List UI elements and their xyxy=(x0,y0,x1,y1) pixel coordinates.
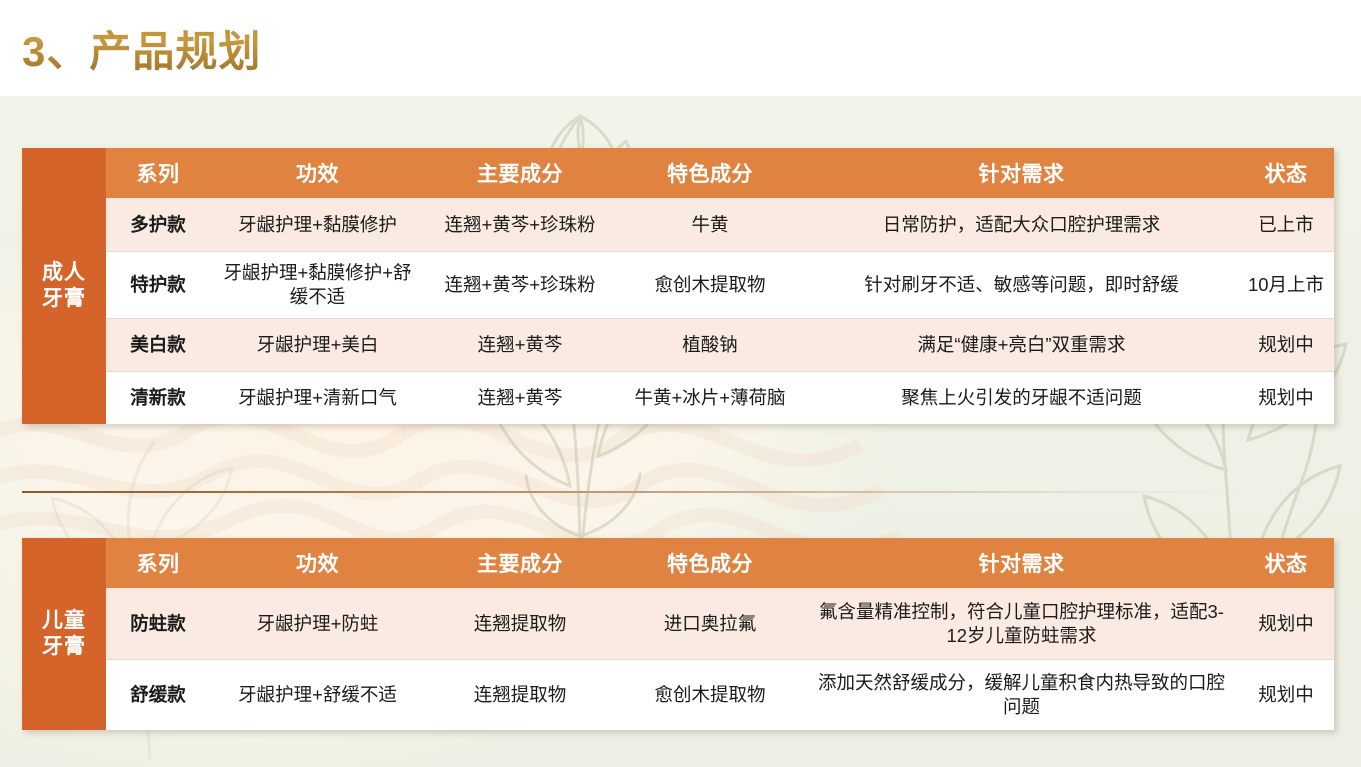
column-header-special-ingredients: 特色成分 xyxy=(615,538,805,588)
cell-need: 日常防护，适配大众口腔护理需求 xyxy=(805,198,1238,251)
cell-main: 连翘提取物 xyxy=(425,660,615,730)
page-title: 3、产品规划 xyxy=(22,18,261,79)
cell-special: 牛黄 xyxy=(615,198,805,251)
cell-special: 植酸钠 xyxy=(615,319,805,371)
adult-table-grid: 系列 功效 主要成分 特色成分 针对需求 状态 多护款 牙龈护理+黏膜修护 连翘… xyxy=(106,148,1334,424)
cell-status: 已上市 xyxy=(1238,198,1334,251)
cell-effect: 牙龈护理+舒缓不适 xyxy=(210,660,425,730)
column-header-status: 状态 xyxy=(1238,148,1334,198)
cell-effect: 牙龈护理+美白 xyxy=(210,319,425,371)
table-row: 美白款 牙龈护理+美白 连翘+黄芩 植酸钠 满足“健康+亮白”双重需求 规划中 xyxy=(106,318,1334,371)
cell-effect: 牙龈护理+黏膜修护 xyxy=(210,198,425,251)
column-header-main-ingredients: 主要成分 xyxy=(425,148,615,198)
cell-special: 愈创木提取物 xyxy=(615,660,805,730)
column-header-effect: 功效 xyxy=(210,148,425,198)
table-row: 防蛀款 牙龈护理+防蛀 连翘提取物 进口奥拉氟 氟含量精准控制，符合儿童口腔护理… xyxy=(106,588,1334,659)
cell-status: 规划中 xyxy=(1238,660,1334,730)
table-row: 舒缓款 牙龈护理+舒缓不适 连翘提取物 愈创木提取物 添加天然舒缓成分，缓解儿童… xyxy=(106,659,1334,730)
cell-series: 舒缓款 xyxy=(106,660,210,730)
cell-need: 针对刷牙不适、敏感等问题，即时舒缓 xyxy=(805,252,1238,318)
slide-canvas: 3、产品规划 成人 牙膏 系列 功效 主要成分 特色成分 针对需求 状态 多护款… xyxy=(0,0,1361,767)
column-header-special-ingredients: 特色成分 xyxy=(615,148,805,198)
cell-series: 防蛀款 xyxy=(106,588,210,659)
table-row: 清新款 牙龈护理+清新口气 连翘+黄芩 牛黄+冰片+薄荷脑 聚焦上火引发的牙龈不… xyxy=(106,371,1334,424)
side-label-line-2: 牙膏 xyxy=(42,634,86,660)
cell-series: 清新款 xyxy=(106,372,210,424)
cell-need: 氟含量精准控制，符合儿童口腔护理标准，适配3-12岁儿童防蛀需求 xyxy=(805,588,1238,659)
column-header-effect: 功效 xyxy=(210,538,425,588)
adult-toothpaste-table: 成人 牙膏 系列 功效 主要成分 特色成分 针对需求 状态 多护款 牙龈护理+黏… xyxy=(22,148,1334,424)
cell-effect: 牙龈护理+黏膜修护+舒缓不适 xyxy=(210,252,425,318)
cell-series: 多护款 xyxy=(106,198,210,251)
cell-main: 连翘+黄芩+珍珠粉 xyxy=(425,252,615,318)
cell-need: 添加天然舒缓成分，缓解儿童积食内热导致的口腔问题 xyxy=(805,660,1238,730)
cell-effect: 牙龈护理+清新口气 xyxy=(210,372,425,424)
cell-series: 特护款 xyxy=(106,252,210,318)
column-header-target-need: 针对需求 xyxy=(805,538,1238,588)
column-header-main-ingredients: 主要成分 xyxy=(425,538,615,588)
table-side-label-adult: 成人 牙膏 xyxy=(22,148,106,424)
side-label-line-1: 成人 xyxy=(42,260,86,286)
cell-main: 连翘+黄芩 xyxy=(425,372,615,424)
column-header-target-need: 针对需求 xyxy=(805,148,1238,198)
cell-need: 满足“健康+亮白”双重需求 xyxy=(805,319,1238,371)
cell-special: 愈创木提取物 xyxy=(615,252,805,318)
table-row: 特护款 牙龈护理+黏膜修护+舒缓不适 连翘+黄芩+珍珠粉 愈创木提取物 针对刷牙… xyxy=(106,251,1334,318)
kids-table-grid: 系列 功效 主要成分 特色成分 针对需求 状态 防蛀款 牙龈护理+防蛀 连翘提取… xyxy=(106,538,1334,730)
cell-status: 规划中 xyxy=(1238,588,1334,659)
side-label-line-1: 儿童 xyxy=(42,608,86,634)
kids-toothpaste-table: 儿童 牙膏 系列 功效 主要成分 特色成分 针对需求 状态 防蛀款 牙龈护理+防… xyxy=(22,538,1334,730)
cell-main: 连翘提取物 xyxy=(425,588,615,659)
cell-special: 进口奥拉氟 xyxy=(615,588,805,659)
cell-need: 聚焦上火引发的牙龈不适问题 xyxy=(805,372,1238,424)
title-band: 3、产品规划 xyxy=(0,0,1361,96)
cell-main: 连翘+黄芩 xyxy=(425,319,615,371)
cell-effect: 牙龈护理+防蛀 xyxy=(210,588,425,659)
cell-main: 连翘+黄芩+珍珠粉 xyxy=(425,198,615,251)
section-divider xyxy=(22,491,1242,493)
cell-series: 美白款 xyxy=(106,319,210,371)
column-header-series: 系列 xyxy=(106,538,210,588)
cell-status: 规划中 xyxy=(1238,319,1334,371)
side-label-line-2: 牙膏 xyxy=(42,286,86,312)
column-header-status: 状态 xyxy=(1238,538,1334,588)
cell-special: 牛黄+冰片+薄荷脑 xyxy=(615,372,805,424)
table-row: 多护款 牙龈护理+黏膜修护 连翘+黄芩+珍珠粉 牛黄 日常防护，适配大众口腔护理… xyxy=(106,198,1334,251)
column-header-series: 系列 xyxy=(106,148,210,198)
table-header-row: 系列 功效 主要成分 特色成分 针对需求 状态 xyxy=(106,148,1334,198)
table-header-row: 系列 功效 主要成分 特色成分 针对需求 状态 xyxy=(106,538,1334,588)
cell-status: 10月上市 xyxy=(1238,252,1334,318)
cell-status: 规划中 xyxy=(1238,372,1334,424)
table-side-label-kids: 儿童 牙膏 xyxy=(22,538,106,730)
